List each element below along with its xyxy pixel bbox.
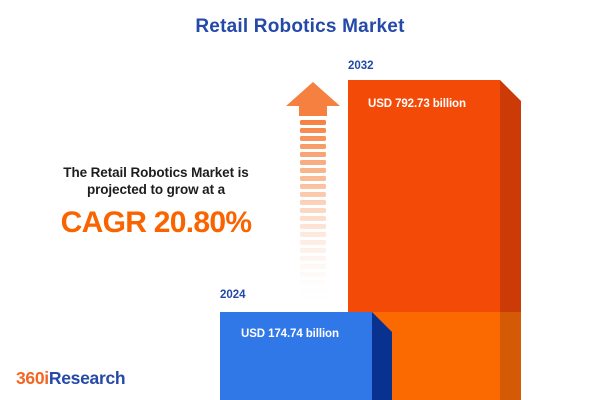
up-arrow-icon (283, 80, 343, 302)
bar-2032-front-upper (348, 80, 500, 312)
callout-block: The Retail Robotics Market is projected … (40, 164, 272, 239)
bar-2032-side-upper (500, 80, 521, 312)
bar-value-label-2024: USD 174.74 billion (241, 328, 339, 340)
bar-2024 (220, 312, 396, 400)
bar-value-label-2032: USD 792.73 billion (368, 98, 466, 110)
infographic-canvas: Retail Robotics Market 2032 USD 792.73 b… (0, 0, 600, 400)
brand-logo-part-1: 360i (16, 368, 49, 388)
bar-year-label-2024: 2024 (220, 289, 246, 301)
callout-line-2: projected to grow at a (40, 181, 272, 198)
bar-2024-side (372, 312, 392, 400)
bar-2032-side-lower (500, 312, 521, 400)
page-title: Retail Robotics Market (0, 16, 600, 38)
brand-logo-part-2: Research (49, 368, 125, 388)
bar-2024-front (220, 312, 372, 400)
callout-line-1: The Retail Robotics Market is (40, 164, 272, 181)
brand-logo: 360iResearch (16, 368, 125, 389)
bar-year-label-2032: 2032 (348, 60, 374, 72)
cagr-value: CAGR 20.80% (40, 207, 272, 239)
